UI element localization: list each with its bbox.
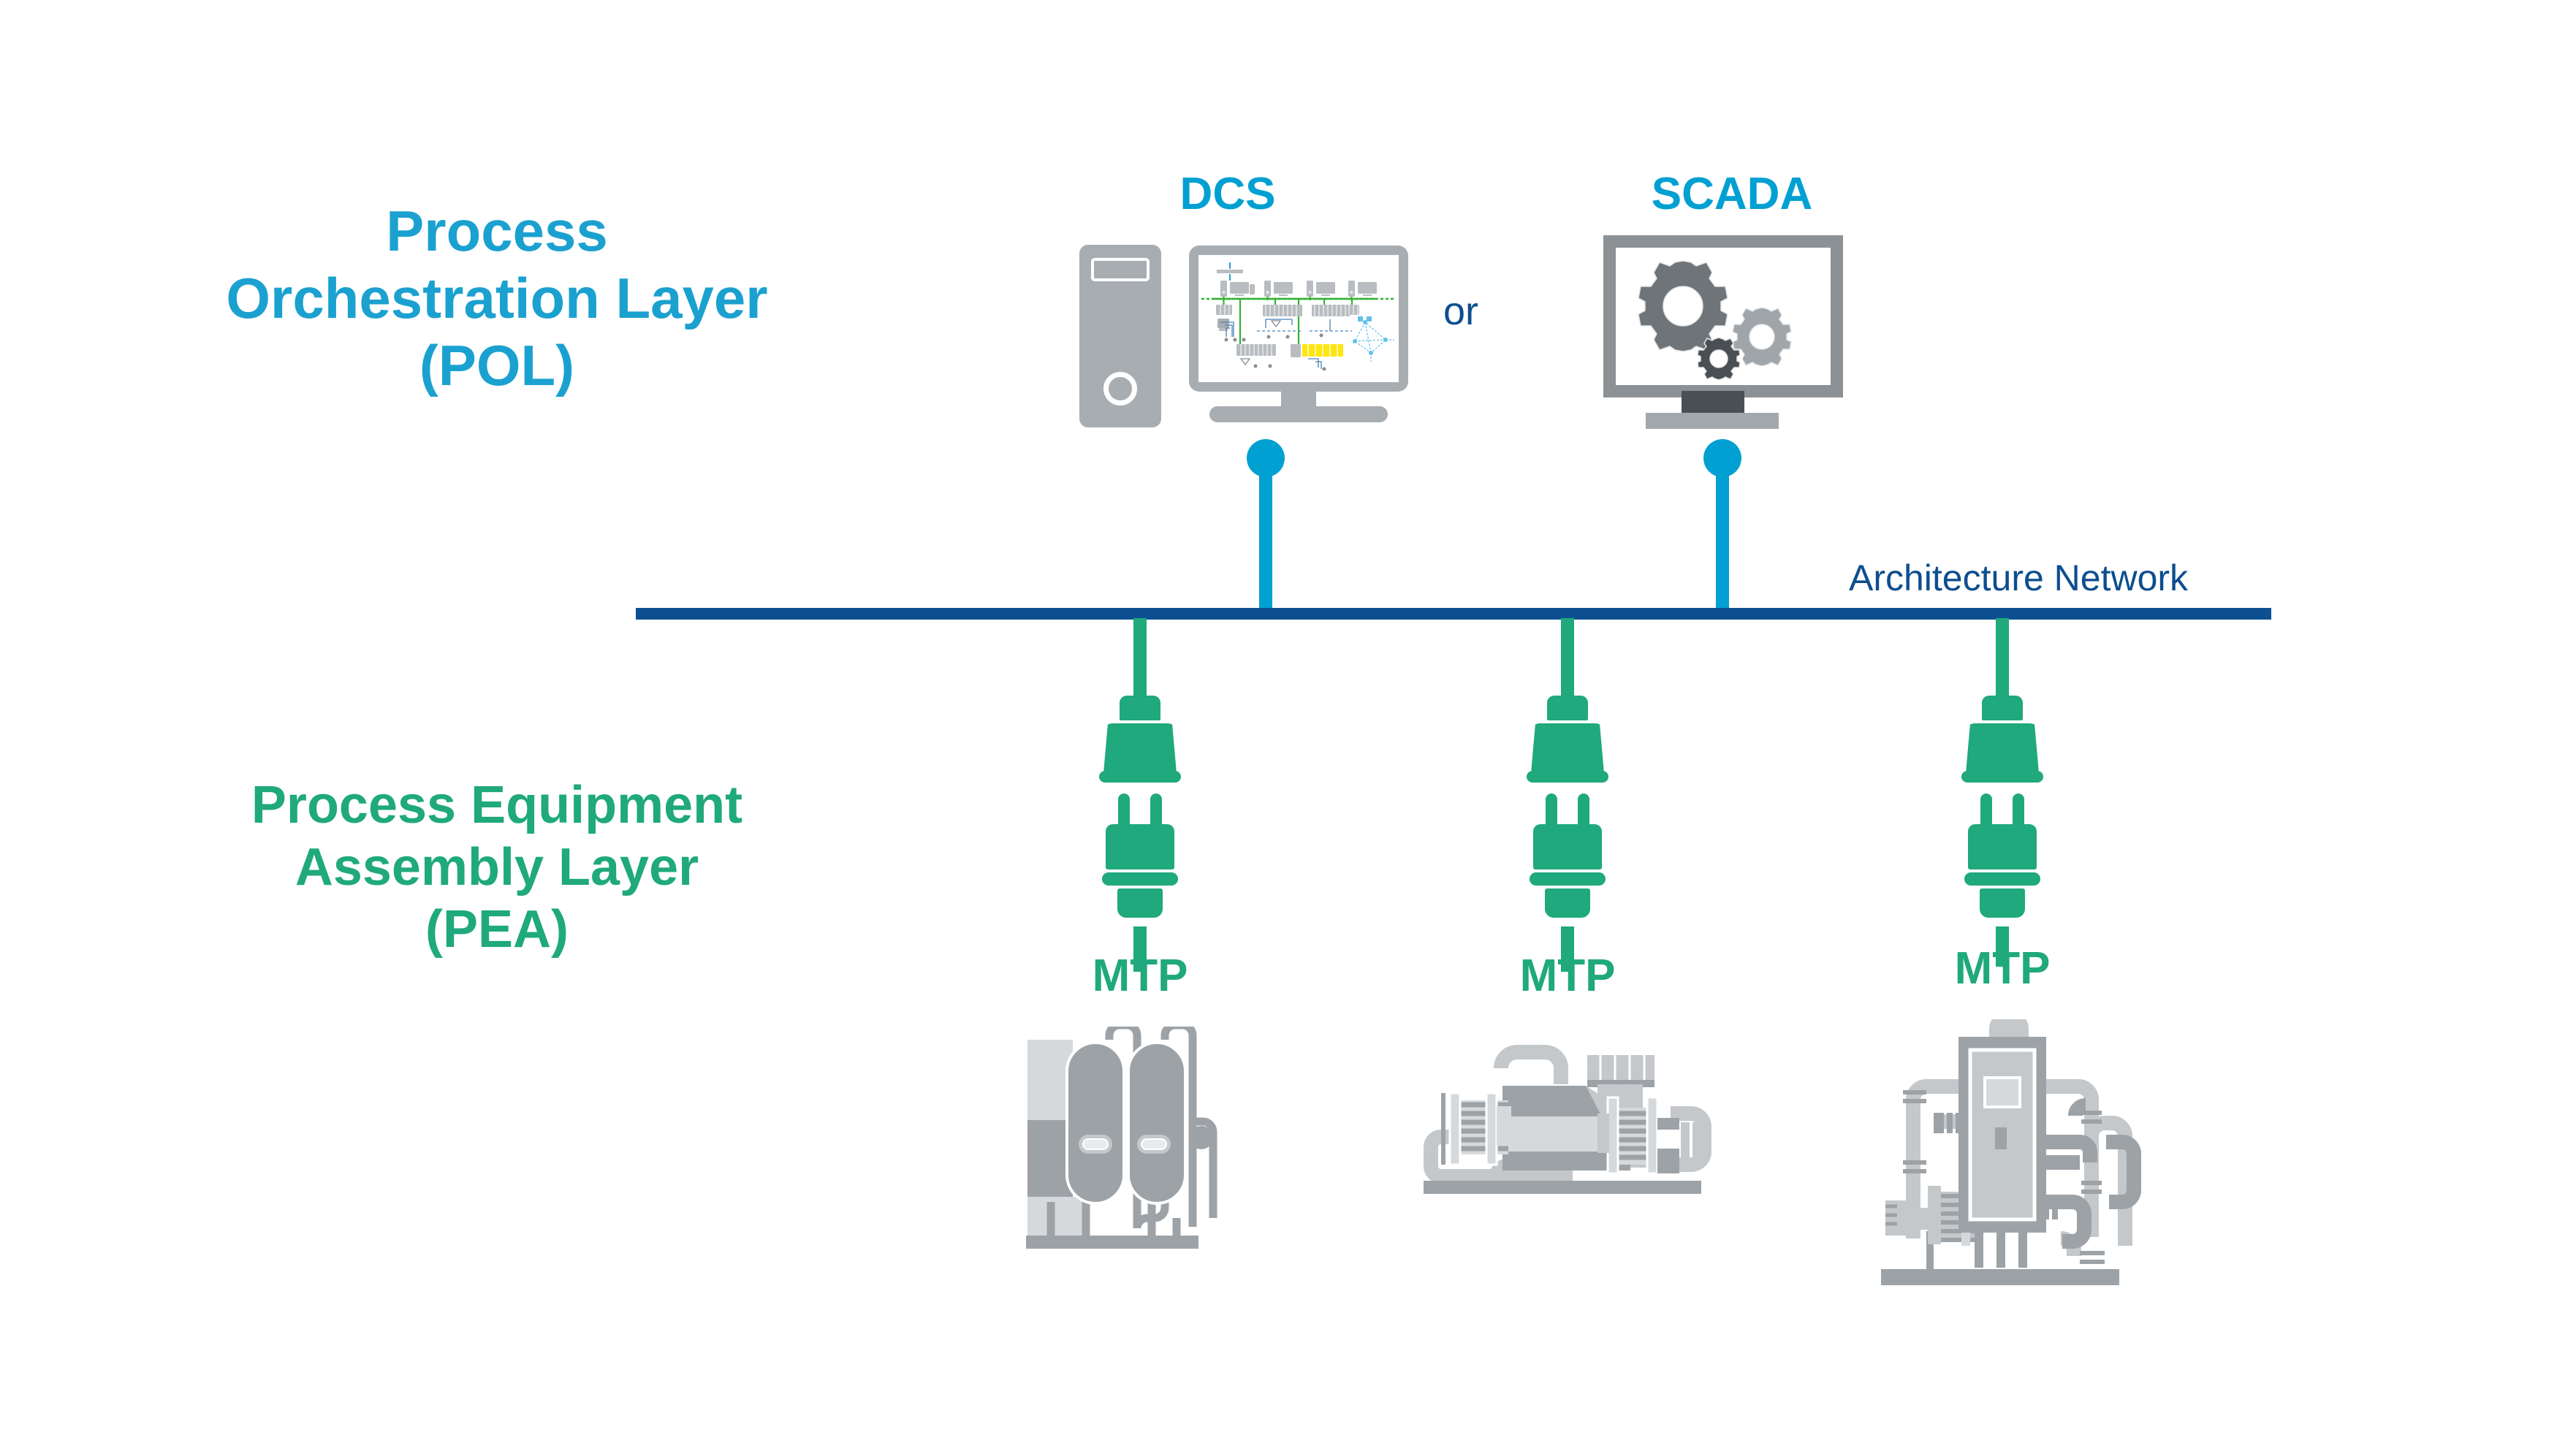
cable-plug-icon-2 xyxy=(1533,793,1602,918)
pump-compressor-skid-icon xyxy=(1402,1038,1723,1231)
dcs-monitor-base xyxy=(1209,406,1388,422)
dcs-plant-network-schematic-icon xyxy=(1198,255,1399,382)
cable-socket-icon-2 xyxy=(1531,696,1604,783)
pea-cable-upper-2 xyxy=(1561,618,1574,700)
scada-monitor-base xyxy=(1646,413,1779,429)
mtp-label-1: MTP xyxy=(1045,950,1235,1002)
dcs-monitor-icon xyxy=(1189,245,1408,392)
dcs-title: DCS xyxy=(1096,168,1359,220)
process-orchestration-layer-label: Process Orchestration Layer (POL) xyxy=(102,197,892,399)
reactor-skid-with-piping-icon xyxy=(1856,1019,2148,1301)
diagram-canvas: Process Orchestration Layer (POL) Proces… xyxy=(0,0,2576,1454)
dcs-tower-pc-icon xyxy=(1079,245,1161,427)
scada-monitor-icon xyxy=(1603,235,1843,397)
twin-vertical-tanks-icon xyxy=(1022,1027,1234,1271)
process-equipment-assembly-layer-label: Process Equipment Assembly Layer (PEA) xyxy=(102,774,892,961)
cable-plug-icon-3 xyxy=(1968,793,2037,918)
gears-icon xyxy=(1616,248,1831,385)
architecture-network-bus xyxy=(636,608,2271,620)
scada-network-drop-line xyxy=(1716,457,1729,614)
or-separator-label: or xyxy=(1443,289,1478,334)
architecture-network-label: Architecture Network xyxy=(1849,557,2188,599)
pea-cable-upper-3 xyxy=(1996,618,2009,700)
cable-socket-icon-1 xyxy=(1103,696,1177,783)
cable-socket-icon-3 xyxy=(1966,696,2039,783)
mtp-label-2: MTP xyxy=(1473,950,1663,1002)
dcs-network-drop-line xyxy=(1259,457,1272,614)
mtp-label-3: MTP xyxy=(1907,943,2097,994)
power-button-icon xyxy=(1103,372,1137,406)
cable-plug-icon-1 xyxy=(1106,793,1174,918)
optical-drive-slot-icon xyxy=(1091,258,1150,281)
pea-cable-upper-1 xyxy=(1133,618,1147,700)
scada-title: SCADA xyxy=(1586,168,1878,220)
dcs-screen xyxy=(1198,255,1399,382)
